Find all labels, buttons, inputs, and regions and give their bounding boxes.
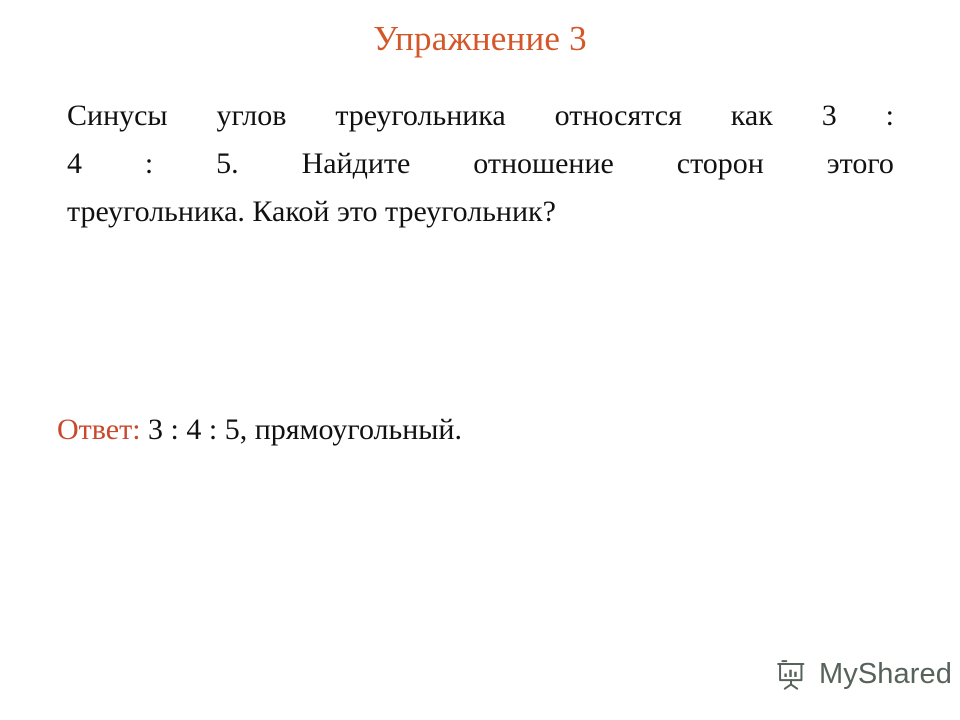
- slide-canvas: Упражнение 3 Синусы углов треугольника о…: [0, 0, 960, 720]
- problem-line-1: Синусы углов треугольника относятся как …: [67, 92, 894, 140]
- problem-line-2: 4 : 5. Найдите отношение сторон этого: [67, 140, 894, 188]
- answer-value: 3 : 4 : 5, прямоугольный.: [141, 413, 462, 446]
- problem-word: Найдите: [302, 140, 411, 188]
- problem-word: сторон: [677, 140, 764, 188]
- page-title: Упражнение 3: [0, 17, 960, 61]
- presentation-chart-board-icon: [772, 655, 810, 693]
- problem-word: треугольника. Какой это треугольник?: [67, 188, 556, 236]
- problem-word: 3: [822, 92, 837, 140]
- problem-word: как: [731, 92, 773, 140]
- problem-word: треугольника: [335, 92, 505, 140]
- problem-word: отношение: [473, 140, 614, 188]
- problem-word: 4: [67, 140, 82, 188]
- problem-word: этого: [827, 140, 894, 188]
- problem-word: углов: [217, 92, 287, 140]
- answer-line: Ответ: 3 : 4 : 5, прямоугольный.: [57, 409, 462, 451]
- problem-statement: Синусы углов треугольника относятся как …: [67, 92, 894, 236]
- problem-word: :: [145, 140, 153, 188]
- problem-word: 5.: [216, 140, 239, 188]
- problem-word: относятся: [555, 92, 682, 140]
- watermark: MyShared: [772, 655, 952, 693]
- watermark-text: MyShared: [819, 659, 952, 689]
- problem-word: Синусы: [67, 92, 168, 140]
- problem-line-3: треугольника. Какой это треугольник?: [67, 188, 894, 236]
- problem-word: :: [886, 92, 894, 140]
- answer-label: Ответ:: [57, 413, 141, 446]
